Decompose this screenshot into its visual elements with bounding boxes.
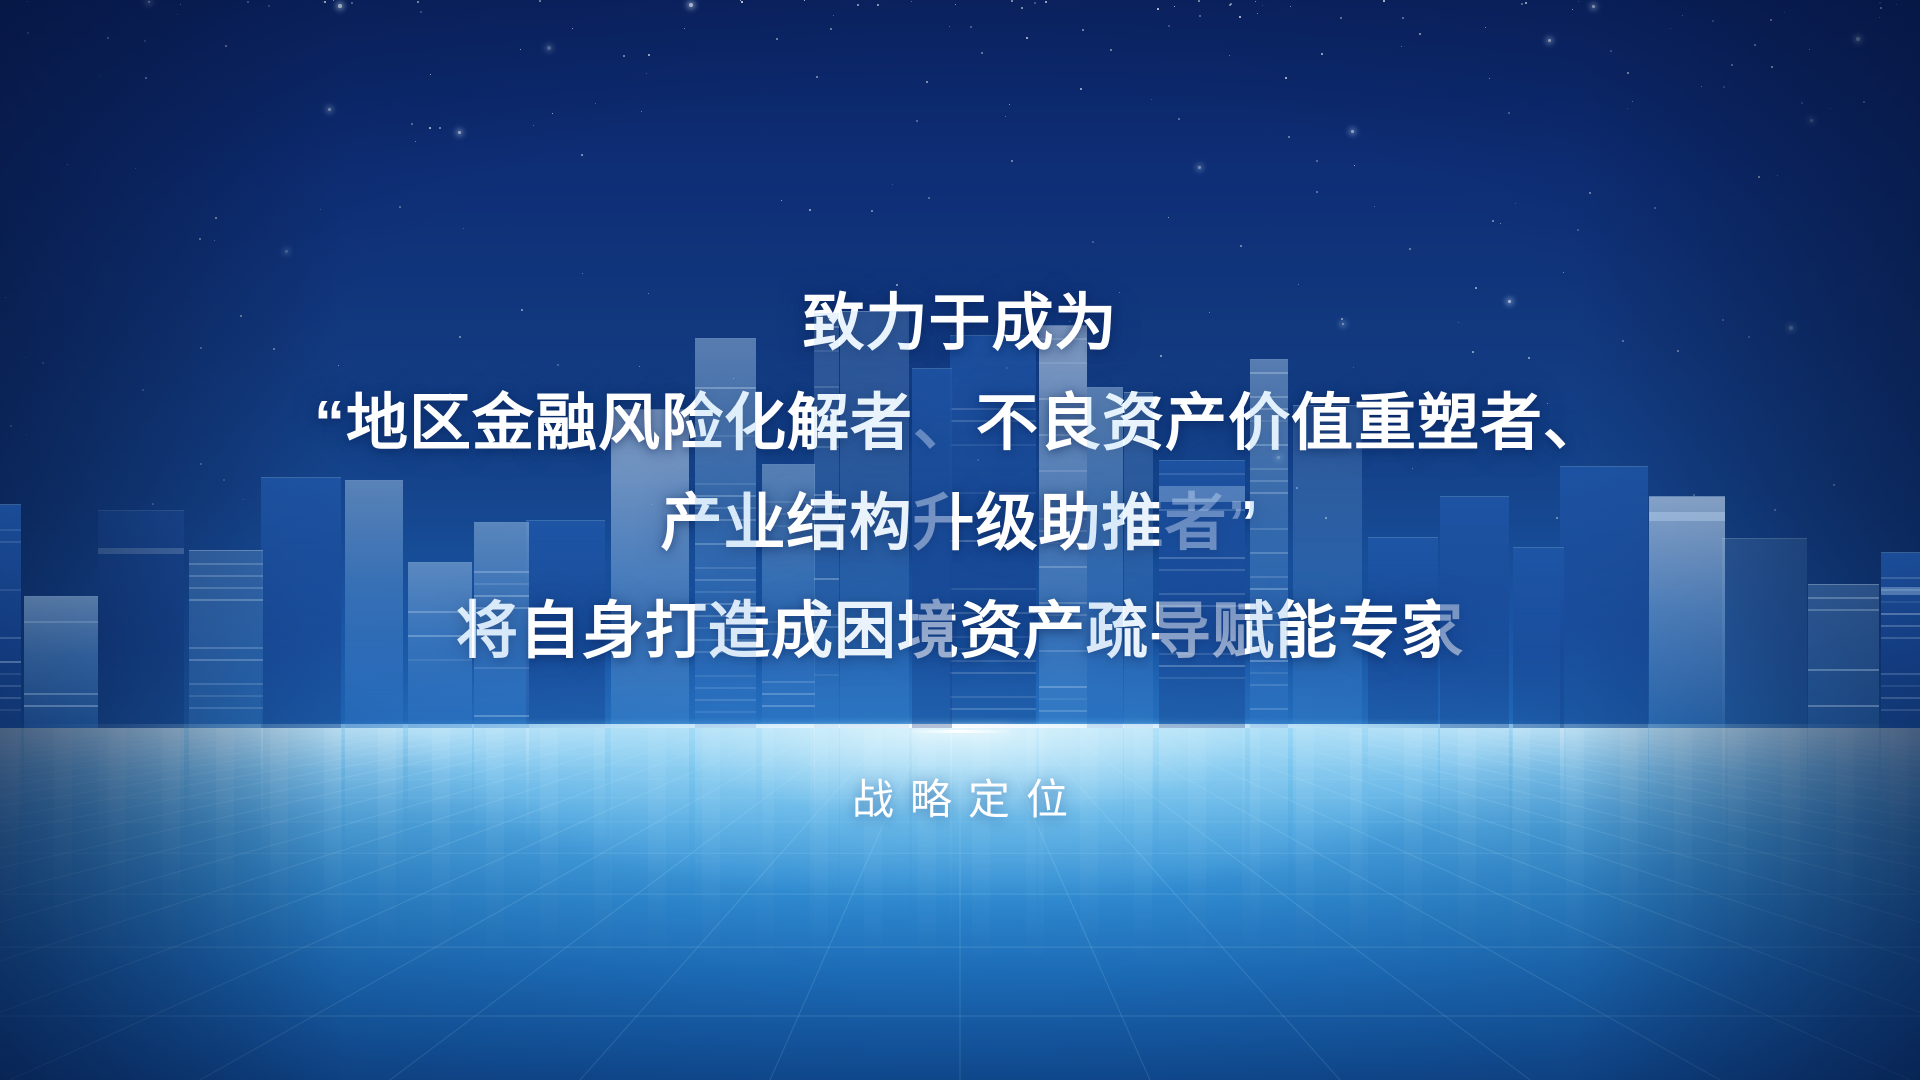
headline-line-2: “地区金融风险化解者、不良资产价值重塑者、 [0,372,1920,462]
headline-line-1: 致力于成为 [0,272,1920,362]
subtitle-label: 战略定位 [0,766,1920,827]
slide-canvas: 致力于成为 “地区金融风险化解者、不良资产价值重塑者、 产业结构升级助推者” 将… [0,0,1920,1080]
title-divider [910,730,1010,733]
